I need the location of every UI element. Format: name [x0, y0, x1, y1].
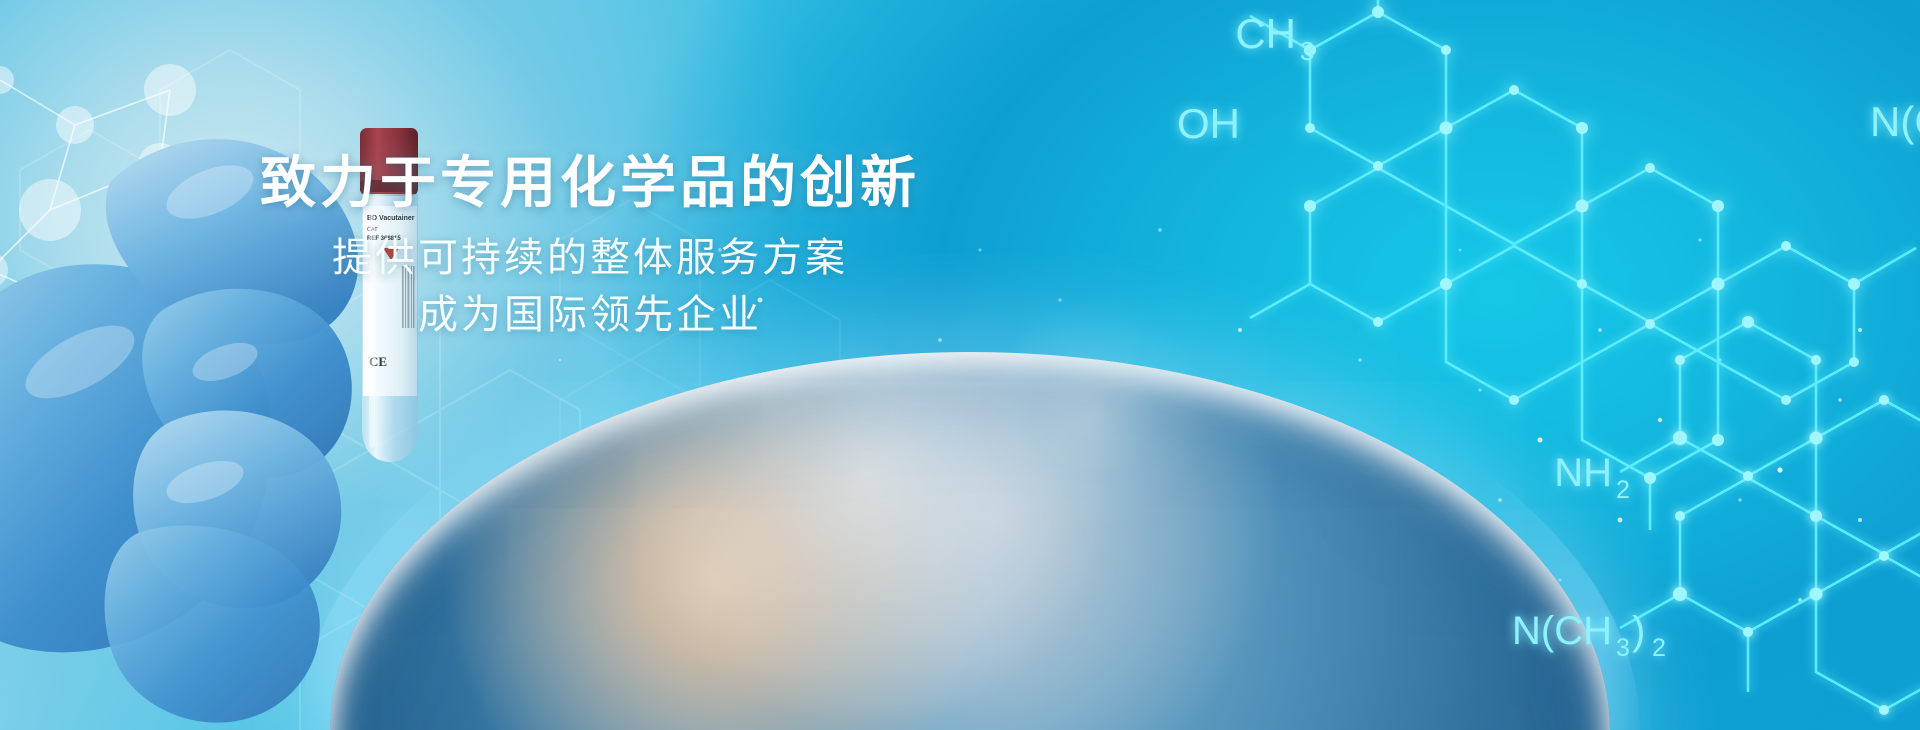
hydroxyl-group-label: OH — [1177, 100, 1240, 147]
amine-group-label-top-right: N(CH 3 — [1870, 98, 1920, 154]
hero-copy-block: 致力于专用化学品的创新 提供可持续的整体服务方案 成为国际领先企业 — [0, 150, 1180, 344]
hero-subtitle-line-1: 提供可持续的整体服务方案 — [0, 230, 1180, 287]
svg-text:2: 2 — [1616, 476, 1630, 504]
svg-text:CH: CH — [1235, 10, 1296, 57]
page-title: 致力于专用化学品的创新 — [0, 150, 1180, 216]
chemical-structure-diagram-bottom: NH 2 N(CH 3 ) 2 — [1380, 300, 1920, 730]
svg-text:3: 3 — [1300, 36, 1314, 66]
hero-subtitle-line-2: 成为国际领先企业 — [0, 287, 1180, 344]
amino-group-label: NH 2 — [1554, 451, 1630, 504]
svg-text:N(CH: N(CH — [1512, 609, 1612, 653]
hero-banner: BD Vacutainer CAT REF 368815 CE — [0, 0, 1920, 730]
dimethylamino-group-label: N(CH 3 ) 2 — [1512, 609, 1666, 662]
methyl-group-label: CH 3 — [1235, 10, 1314, 66]
svg-text:N(CH: N(CH — [1870, 98, 1920, 145]
svg-text:): ) — [1632, 609, 1645, 653]
svg-text:2: 2 — [1652, 634, 1666, 662]
svg-text:OH: OH — [1177, 100, 1240, 147]
hero-subtitle: 提供可持续的整体服务方案 成为国际领先企业 — [0, 230, 1180, 344]
svg-text:NH: NH — [1554, 451, 1612, 495]
svg-text:3: 3 — [1616, 634, 1630, 662]
